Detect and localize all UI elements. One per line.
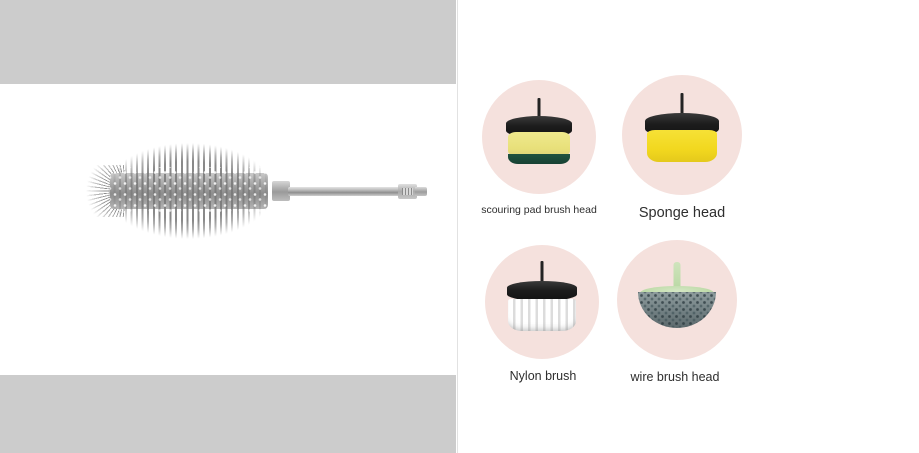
brush-bristle-head: [86, 143, 286, 239]
attachment-sponge-head[interactable]: Sponge head: [622, 75, 746, 221]
attachment-circle-backdrop: [485, 245, 599, 359]
attachment-wire-mesh: [638, 292, 716, 328]
attachment-nylon-bristles: [508, 299, 576, 331]
attachment-sponge-body: [647, 130, 717, 162]
brush-shaft: [288, 187, 410, 196]
attachment-label: Sponge head: [618, 205, 746, 221]
panel-divider: [457, 0, 458, 453]
attachment-label: wire brush head: [613, 370, 737, 384]
attachment-nylon-brush[interactable]: Nylon brush: [485, 245, 605, 383]
attachment-sponge-body: [508, 132, 570, 156]
letterbox-bar-top: [0, 0, 456, 84]
brush-end-tip: [415, 187, 427, 196]
attachment-circle-backdrop: [622, 75, 742, 195]
right-attachments-panel[interactable]: scouring pad brush head Sponge head Ny: [459, 0, 919, 453]
attachment-circle-backdrop: [617, 240, 737, 360]
letterbox-bar-bottom: [0, 375, 456, 453]
left-product-photo-panel[interactable]: [0, 0, 456, 453]
attachment-scouring-pad-brush-head[interactable]: scouring pad brush head: [482, 80, 604, 216]
bottle-brush-product: [86, 143, 431, 239]
brush-bristle-highlights: [110, 167, 268, 215]
product-image-canvas: scouring pad brush head Sponge head Ny: [0, 0, 919, 453]
attachment-label: Nylon brush: [481, 369, 605, 383]
attachment-cap: [507, 281, 577, 301]
attachment-grid: scouring pad brush head Sponge head Ny: [477, 80, 737, 380]
attachment-wire-brush-head[interactable]: wire brush head: [617, 240, 737, 384]
attachment-circle-backdrop: [482, 80, 596, 194]
attachment-scouring-pad: [508, 154, 570, 164]
attachment-shaft-icon: [541, 261, 544, 283]
attachment-label: scouring pad brush head: [474, 204, 604, 216]
